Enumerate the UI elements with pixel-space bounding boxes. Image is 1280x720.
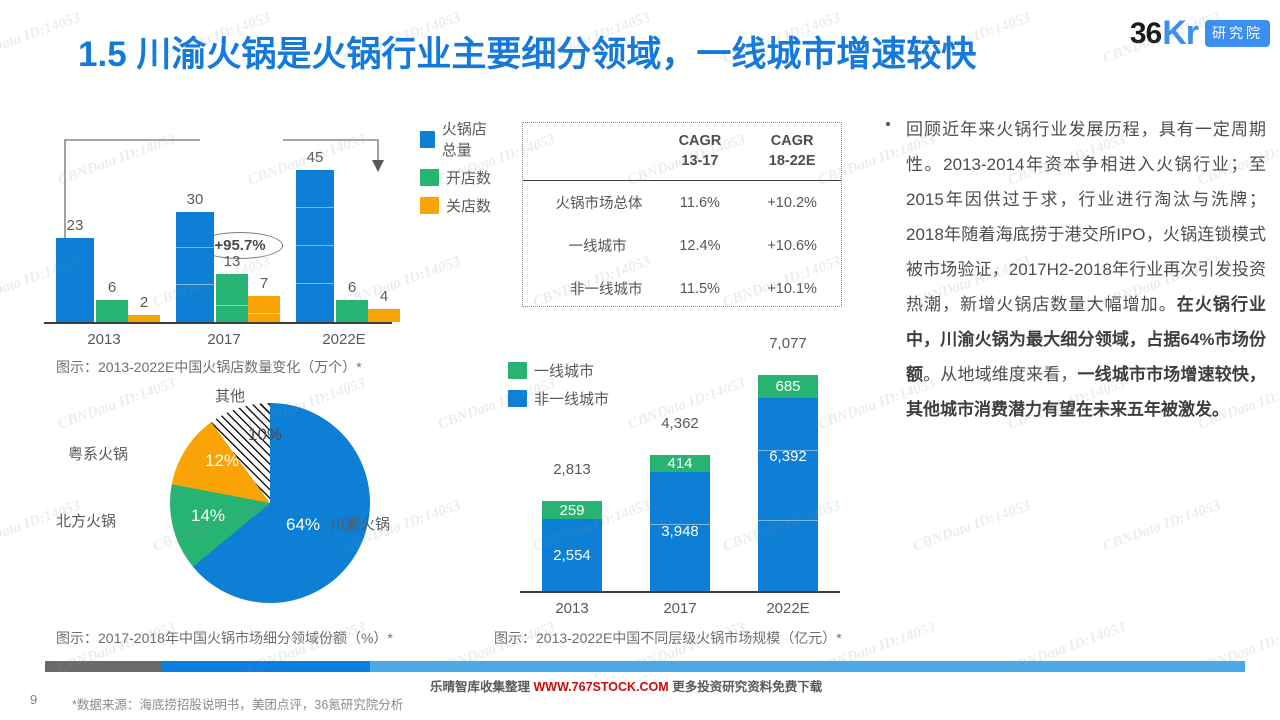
- stacked-total-2017: 4,362: [650, 415, 710, 432]
- stacked-seg-tier1-2017[interactable]: 414: [650, 455, 710, 472]
- analysis-text-part1: 回顾近年来火锅行业发展历程，具有一定周期性。2013-2014年资本争相进入火锅…: [906, 120, 1266, 314]
- bar-closed-label-2022e: 4: [368, 288, 400, 305]
- logo-kr-text: Kr: [1162, 14, 1198, 53]
- bar-opened-2017[interactable]: [216, 274, 248, 322]
- bar-opened-2022e[interactable]: [336, 300, 368, 322]
- legend-label-total: 火锅店总量: [442, 118, 500, 160]
- legend-item-tier1[interactable]: 一线城市: [508, 360, 609, 381]
- promo-suffix: 更多投资研究资料免费下载: [672, 680, 822, 694]
- stacked-seg-nontier1-2013[interactable]: 2,554: [542, 519, 602, 591]
- cagr-row-label-nontier1: 非一线城市: [523, 267, 657, 310]
- bar-group-2022e: 45 6 4: [288, 147, 400, 322]
- legend-swatch-green-tier1: [508, 362, 527, 379]
- logo-badge-label: 研究院: [1205, 20, 1270, 47]
- table-row: 非一线城市 11.5% +10.1%: [523, 267, 841, 310]
- legend-swatch-green: [420, 169, 439, 186]
- cagr-nontier1-13-17: 11.5%: [657, 267, 744, 310]
- promo-watermark: 乐晴智库收集整理 WWW.767STOCK.COM 更多投资研究资料免费下载: [430, 676, 822, 695]
- bar-closed-label-2013: 2: [128, 294, 160, 311]
- stacked-seg-tier1-2013[interactable]: 259: [542, 501, 602, 519]
- watermark-text: CBNData ID:14053: [0, 9, 83, 67]
- table-header-row: CAGR 13-17 CAGR 18-22E: [523, 123, 841, 181]
- stacked-value-nontier1-2017: 3,948: [661, 523, 699, 540]
- stacked-seg-tier1-2022e[interactable]: 685: [758, 375, 818, 398]
- footer-bar-light-blue: [370, 661, 1245, 672]
- bar-total-2013[interactable]: [56, 238, 94, 322]
- legend-swatch-blue: [420, 131, 435, 148]
- bar-total-label-2013: 23: [56, 217, 94, 234]
- legend-swatch-blue-nontier1: [508, 390, 527, 407]
- bar-total-label-2017: 30: [176, 191, 214, 208]
- promo-url[interactable]: WWW.767STOCK.COM: [534, 680, 669, 694]
- stacked-seg-nontier1-2022e[interactable]: 6,392: [758, 398, 818, 591]
- table-header-cagr-13-17: CAGR 13-17: [657, 123, 744, 181]
- stacked-xlabel-2017: 2017: [650, 600, 710, 617]
- stacked-value-tier1-2017: 414: [667, 455, 692, 472]
- stacked-value-tier1-2013: 259: [559, 502, 584, 519]
- pie-label-chuanyu: 川渝火锅: [330, 513, 390, 534]
- analysis-paragraph: 回顾近年来火锅行业发展历程，具有一定周期性。2013-2014年资本争相进入火锅…: [906, 112, 1266, 427]
- table-row: 一线城市 12.4% +10.6%: [523, 224, 841, 267]
- stacked-value-tier1-2022e: 685: [775, 378, 800, 395]
- stacked-total-2013: 2,813: [542, 461, 602, 478]
- market-size-stacked-chart: 一线城市 非一线城市 2,813 259 2,554 2013 4,362 41…: [490, 355, 890, 625]
- stacked-seg-nontier1-2017[interactable]: 3,948: [650, 472, 710, 591]
- cagr-nontier1-18-22e: +10.1%: [743, 267, 841, 310]
- legend-item-closed[interactable]: 关店数: [420, 195, 500, 216]
- header-cagr1-line1: CAGR: [679, 133, 722, 149]
- pie-pct-yuexi: 12%: [205, 451, 239, 471]
- bar-xlabel-2017: 2017: [168, 331, 280, 348]
- table-header-cagr-18-22e: CAGR 18-22E: [743, 123, 841, 181]
- cagr-tier1-18-22e: +10.6%: [743, 224, 841, 267]
- cagr-row-label-overall: 火锅市场总体: [523, 181, 657, 225]
- cagr-table: CAGR 13-17 CAGR 18-22E 火锅市场总体 11.6% +10.…: [522, 122, 842, 307]
- page-number: 9: [30, 692, 37, 707]
- header-cagr1-line2: 13-17: [681, 153, 718, 169]
- legend-label-opened: 开店数: [446, 167, 491, 188]
- legend-label-tier1: 一线城市: [534, 360, 594, 381]
- pie-chart-caption: 图示：2017-2018年中国火锅市场细分领域份额（%）*: [56, 628, 393, 648]
- cagr-overall-18-22e: +10.2%: [743, 181, 841, 225]
- pie-label-other: 其他: [215, 385, 245, 406]
- footer-bar-gray: [45, 661, 161, 672]
- cagr-overall-13-17: 11.6%: [657, 181, 744, 225]
- pie-pct-beifang: 14%: [191, 506, 225, 526]
- pie-graphic: 64% 14% 12% 10%: [170, 403, 370, 603]
- pie-label-beifang: 北方火锅: [56, 510, 116, 531]
- bullet-icon: [886, 122, 890, 126]
- bar-closed-2013[interactable]: [128, 315, 160, 322]
- stacked-col-2022e[interactable]: 7,077 685 6,392: [758, 375, 818, 591]
- brand-logo: 36 Kr 研究院: [1130, 14, 1270, 53]
- bar-xlabel-2022e: 2022E: [288, 331, 400, 348]
- cagr-row-label-tier1: 一线城市: [523, 224, 657, 267]
- stacked-chart-legend: 一线城市 非一线城市: [508, 360, 609, 416]
- stacked-col-2013[interactable]: 2,813 259 2,554: [542, 501, 602, 591]
- bar-group-2017: 30 13 7: [168, 147, 280, 322]
- stacked-x-axis: [520, 591, 840, 593]
- market-share-pie-chart: 64% 14% 12% 10% 川渝火锅 北方火锅 粤系火锅 其他: [40, 385, 460, 625]
- promo-prefix: 乐晴智库收集整理: [430, 680, 530, 694]
- bar-chart-legend: 火锅店总量 开店数 关店数: [420, 118, 500, 223]
- bar-closed-label-2017: 7: [248, 275, 280, 292]
- legend-item-opened[interactable]: 开店数: [420, 167, 500, 188]
- stacked-value-nontier1-2022e: 6,392: [769, 448, 807, 465]
- stacked-xlabel-2013: 2013: [542, 600, 602, 617]
- pie-pct-other: 10%: [248, 425, 282, 445]
- bar-chart-caption: 图示：2013-2022E中国火锅店数量变化（万个）*: [56, 357, 362, 377]
- bar-opened-2013[interactable]: [96, 300, 128, 322]
- footer-bar-blue: [161, 661, 370, 672]
- pie-pct-chuanyu: 64%: [286, 515, 320, 535]
- table-row: 火锅市场总体 11.6% +10.2%: [523, 181, 841, 225]
- bar-opened-label-2013: 6: [96, 279, 128, 296]
- bar-opened-label-2022e: 6: [336, 279, 368, 296]
- logo-36-text: 36: [1130, 17, 1161, 51]
- stacked-xlabel-2022e: 2022E: [758, 600, 818, 617]
- bar-total-2022e[interactable]: [296, 170, 334, 322]
- page-title: 1.5 川渝火锅是火锅行业主要细分领域，一线城市增速较快: [78, 26, 976, 77]
- header-cagr2-line1: CAGR: [771, 133, 814, 149]
- legend-label-nontier1: 非一线城市: [534, 388, 609, 409]
- stacked-col-2017[interactable]: 4,362 414 3,948: [650, 455, 710, 591]
- cagr-tier1-13-17: 12.4%: [657, 224, 744, 267]
- bar-total-label-2022e: 45: [296, 149, 334, 166]
- stacked-value-nontier1-2013: 2,554: [553, 547, 591, 564]
- slide-root: CBNData ID:14053CBNData ID:14053CBNData …: [0, 0, 1280, 720]
- store-count-bar-chart: +95.7% 23 6 2 2013 30: [40, 110, 500, 350]
- bar-chart-x-axis: [44, 322, 392, 324]
- analysis-text-panel: 回顾近年来火锅行业发展历程，具有一定周期性。2013-2014年资本争相进入火锅…: [880, 112, 1268, 642]
- header-cagr2-line2: 18-22E: [769, 153, 816, 169]
- legend-label-closed: 关店数: [446, 195, 491, 216]
- analysis-text-part2: 。从地域维度来看，: [923, 365, 1077, 384]
- stacked-chart-caption: 图示：2013-2022E中国不同层级火锅市场规模（亿元）*: [494, 628, 842, 648]
- bar-closed-2017[interactable]: [248, 296, 280, 322]
- bar-total-2017[interactable]: [176, 212, 214, 322]
- bar-opened-label-2017: 13: [216, 253, 248, 270]
- bar-xlabel-2013: 2013: [48, 331, 160, 348]
- pie-label-yuexi: 粤系火锅: [68, 443, 128, 464]
- legend-item-total[interactable]: 火锅店总量: [420, 118, 500, 160]
- stacked-total-2022e: 7,077: [758, 335, 818, 352]
- legend-item-nontier1[interactable]: 非一线城市: [508, 388, 609, 409]
- legend-swatch-orange: [420, 197, 439, 214]
- source-note: *数据来源：海底捞招股说明书，美团点评，36氪研究院分析: [72, 694, 403, 713]
- table-header-blank: [523, 123, 657, 181]
- bar-group-2013: 23 6 2: [48, 147, 160, 322]
- bar-closed-2022e[interactable]: [368, 309, 400, 322]
